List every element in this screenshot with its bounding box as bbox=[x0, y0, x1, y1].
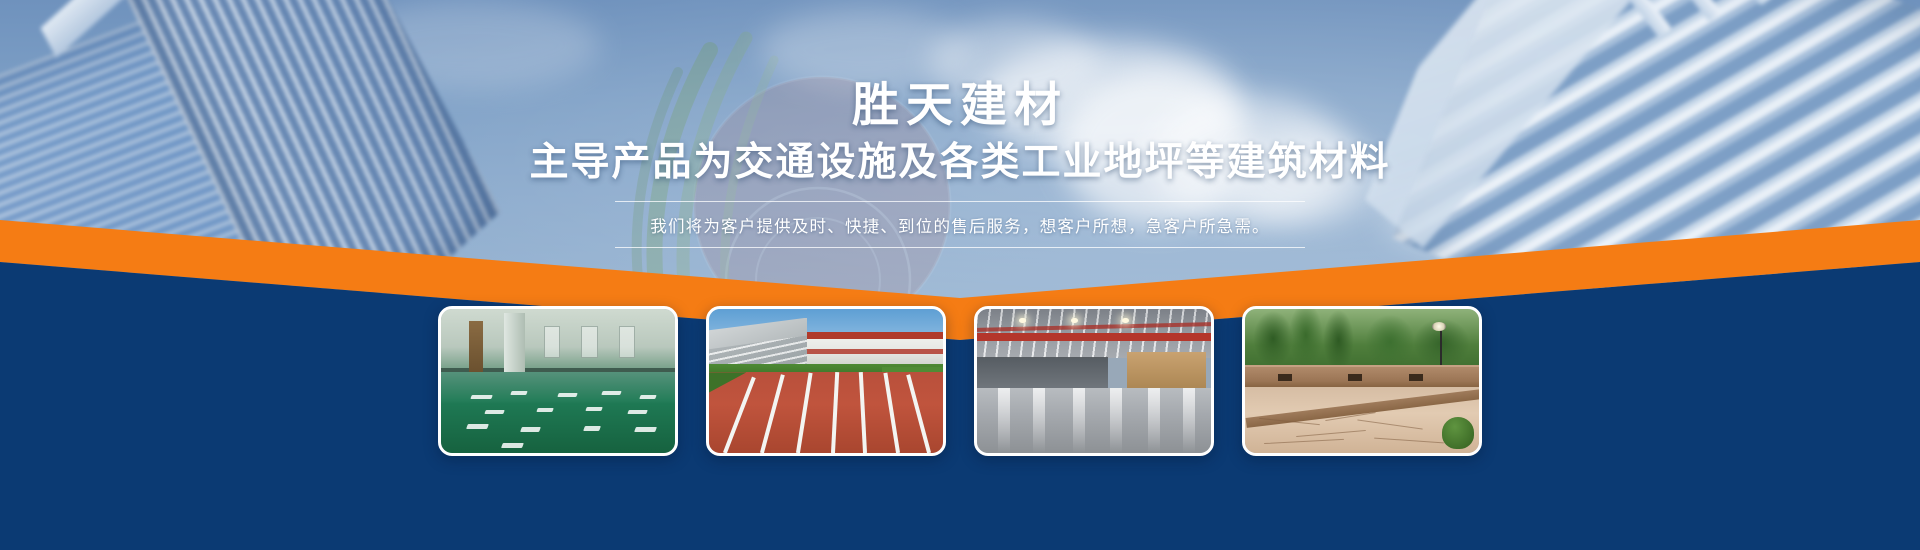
floor-sheen bbox=[1110, 388, 1122, 453]
floor-glint bbox=[583, 426, 601, 431]
floor-glint bbox=[520, 427, 540, 432]
divider-bottom bbox=[615, 247, 1305, 248]
thumbnail-strip bbox=[0, 306, 1920, 456]
floor-sheen bbox=[1148, 388, 1160, 453]
thumbnail-image bbox=[977, 309, 1211, 453]
polished-concrete-surface bbox=[977, 388, 1211, 453]
ceiling-lamp-icon bbox=[1071, 318, 1078, 324]
floor-glint bbox=[511, 391, 529, 395]
wall-niche bbox=[1278, 374, 1292, 381]
interior-door bbox=[469, 321, 483, 373]
banner-copy: 胜天建材 主导产品为交通设施及各类工业地坪等建筑材料 我们将为客户提供及时、快捷… bbox=[0, 78, 1920, 248]
floor-glint bbox=[466, 424, 489, 429]
banner-subtitle: 主导产品为交通设施及各类工业地坪等建筑材料 bbox=[0, 140, 1920, 187]
thumbnail-green-epoxy-floor[interactable] bbox=[438, 306, 678, 456]
floor-glint bbox=[634, 427, 657, 432]
banner-description: 我们将为客户提供及时、快捷、到位的售后服务，想客户所想，急客户所急需。 bbox=[615, 202, 1305, 247]
floor-reflection bbox=[441, 372, 675, 404]
hero-banner: 胜天建材 主导产品为交通设施及各类工业地坪等建筑材料 我们将为客户提供及时、快捷… bbox=[0, 0, 1920, 550]
interior-window bbox=[619, 326, 635, 358]
thumbnail-running-track[interactable] bbox=[706, 306, 946, 456]
interior-window bbox=[581, 326, 597, 358]
floor-glint bbox=[602, 391, 622, 395]
thumbnail-factory-floor[interactable] bbox=[974, 306, 1214, 456]
school-building-roof bbox=[807, 332, 943, 339]
lamp-head-icon bbox=[1432, 322, 1446, 331]
wooden-crates bbox=[1127, 352, 1207, 389]
overhead-crane-beam bbox=[977, 333, 1211, 340]
garden-shrub bbox=[1442, 417, 1475, 449]
floor-sheen bbox=[1033, 388, 1045, 453]
floor-glint bbox=[627, 410, 647, 414]
floor-sheen bbox=[1073, 388, 1085, 453]
wall-niche bbox=[1348, 374, 1362, 381]
floor-glint bbox=[501, 443, 524, 448]
floor-glint bbox=[485, 410, 505, 414]
floor-sheen bbox=[1183, 388, 1195, 453]
wall-niche bbox=[1409, 374, 1423, 381]
thumbnail-image bbox=[709, 309, 943, 453]
floor-glint bbox=[585, 407, 603, 411]
school-building-band bbox=[807, 349, 943, 353]
divider-group: 我们将为客户提供及时、快捷、到位的售后服务，想客户所想，急客户所急需。 bbox=[615, 201, 1305, 248]
thumbnail-stamped-concrete[interactable] bbox=[1242, 306, 1482, 456]
floor-sheen bbox=[998, 388, 1010, 453]
thumbnail-image bbox=[1245, 309, 1479, 453]
floor-glint bbox=[557, 393, 577, 397]
interior-window bbox=[544, 326, 560, 358]
factory-machinery bbox=[977, 357, 1108, 389]
interior-column bbox=[504, 313, 525, 379]
thumbnail-image bbox=[441, 309, 675, 453]
banner-title: 胜天建材 bbox=[0, 78, 1920, 132]
floor-glint bbox=[639, 395, 657, 399]
